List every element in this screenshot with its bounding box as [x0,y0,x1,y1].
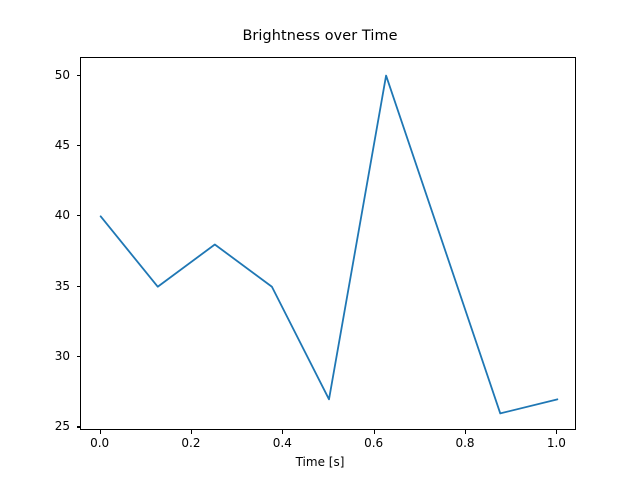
x-tick-label: 0.0 [90,436,109,450]
x-tick-label: 1.0 [547,436,566,450]
x-tick-mark [100,430,101,434]
x-tick-mark [556,430,557,434]
brightness-line [101,76,558,414]
y-tick-mark [77,145,81,146]
x-tick-mark [191,430,192,434]
y-tick-mark [77,286,81,287]
line-series-svg [81,58,577,431]
x-tick-label: 0.2 [181,436,200,450]
x-tick-mark [465,430,466,434]
y-tick-mark [77,426,81,427]
chart-title: Brightness over Time [0,28,640,44]
y-tick-mark [77,356,81,357]
y-tick-mark [77,215,81,216]
y-tick-mark [77,75,81,76]
y-axis-label-wrap: Brightness [36,57,56,430]
figure-canvas: Brightness over Time 0.00.20.40.60.81.0 … [0,0,640,480]
x-tick-mark [282,430,283,434]
x-tick-label: 0.6 [364,436,383,450]
x-tick-label: 0.8 [455,436,474,450]
x-tick-label: 0.4 [273,436,292,450]
x-axis-label: Time [s] [0,455,640,469]
x-tick-mark [374,430,375,434]
plot-area [80,57,576,430]
